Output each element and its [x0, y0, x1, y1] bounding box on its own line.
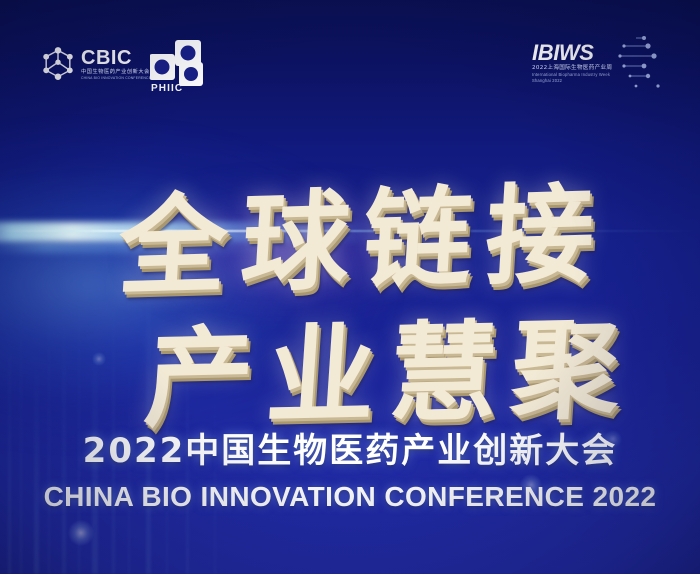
headline-line-2: 产业慧聚: [0, 280, 700, 451]
cbic-english-name: CHINA BIO INNOVATION CONFERENCE: [81, 76, 151, 81]
sparkle: [68, 520, 94, 546]
phiic-logo[interactable]: PHIIC: [150, 40, 214, 96]
cbic-wordmark: CBIC: [81, 48, 151, 69]
headline: 全球链接 产业慧聚: [0, 140, 700, 420]
phiic-wordmark: PHIIC: [151, 83, 183, 94]
network-nodes-icon: [614, 30, 672, 96]
three-rounded-squares-icon: [150, 40, 214, 86]
ibiws-logo[interactable]: IBIWS 2022上海国际生物医药产业周 International Biop…: [532, 42, 662, 98]
cbic-logo[interactable]: CBIC 中国生物医药产业创新大会 CHINA BIO INNOVATION C…: [38, 44, 151, 84]
logo-bar: CBIC 中国生物医药产业创新大会 CHINA BIO INNOVATION C…: [0, 0, 700, 110]
molecule-network-icon: [38, 44, 78, 84]
cbic-chinese-name: 中国生物医药产业创新大会: [81, 69, 151, 76]
conference-title-block: 2022中国生物医药产业创新大会 CHINA BIO INNOVATION CO…: [0, 430, 700, 513]
conference-title-cn: 2022中国生物医药产业创新大会: [0, 430, 700, 472]
conference-title-en: CHINA BIO INNOVATION CONFERENCE 2022: [0, 481, 700, 513]
conference-poster: CBIC 中国生物医药产业创新大会 CHINA BIO INNOVATION C…: [0, 0, 700, 574]
cbic-wordmark-block: CBIC 中国生物医药产业创新大会 CHINA BIO INNOVATION C…: [81, 48, 151, 81]
